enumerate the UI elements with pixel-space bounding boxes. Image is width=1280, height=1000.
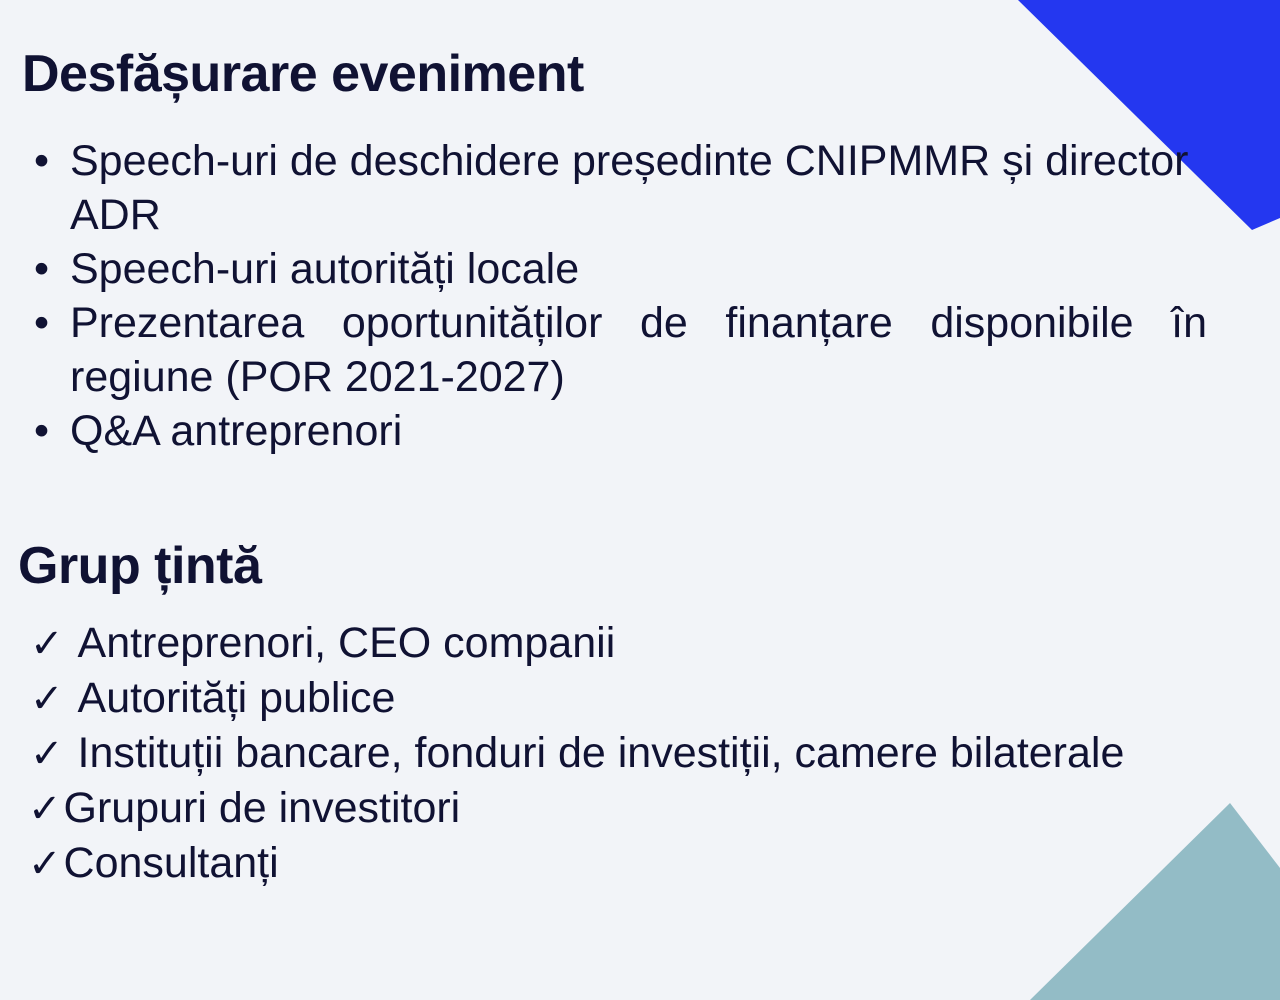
- check-icon: ✓: [30, 727, 64, 781]
- check-icon: ✓: [28, 782, 62, 836]
- event-bullet-list: Speech-uri de deschidere președinte CNIP…: [22, 134, 1207, 458]
- list-item: Q&A antreprenori: [22, 404, 1207, 458]
- list-item-label: Autorități publice: [78, 674, 396, 722]
- check-icon: ✓: [30, 617, 64, 671]
- page-title-event: Desfășurare eveniment: [22, 48, 584, 100]
- list-item: ✓Antreprenori, CEO companii: [0, 616, 1154, 671]
- list-item-label: Prezentarea oportunităților de finanțare…: [70, 296, 1207, 404]
- bullet-dot-icon: [34, 404, 48, 458]
- slide-body: Desfășurare eveniment Speech-uri de desc…: [0, 0, 1280, 1000]
- list-item: ✓Autorități publice: [0, 671, 1154, 726]
- list-item: Speech-uri de deschidere președinte CNIP…: [22, 134, 1207, 242]
- list-item: Speech-uri autorități locale: [22, 242, 1207, 296]
- list-item-label: Speech-uri autorități locale: [70, 242, 1207, 296]
- list-item-label: Consultanți: [64, 839, 279, 887]
- list-item: ✓Instituții bancare, fonduri de investiț…: [0, 726, 1154, 781]
- page-title-audience: Grup țintă: [18, 540, 261, 592]
- list-item-label: Grupuri de investitori: [64, 784, 461, 832]
- list-item: ✓Consultanți: [0, 836, 1154, 891]
- audience-check-list: ✓Antreprenori, CEO companii ✓Autorități …: [0, 616, 1154, 891]
- list-item-label: Q&A antreprenori: [70, 404, 1207, 458]
- list-item-label: Instituții bancare, fonduri de investiți…: [78, 729, 1125, 777]
- list-item-label: Speech-uri de deschidere președinte CNIP…: [70, 134, 1207, 242]
- check-icon: ✓: [30, 672, 64, 726]
- bullet-dot-icon: [34, 242, 48, 296]
- check-icon: ✓: [28, 837, 62, 891]
- bullet-dot-icon: [34, 296, 48, 350]
- list-item: ✓Grupuri de investitori: [0, 781, 1154, 836]
- bullet-dot-icon: [34, 134, 48, 188]
- list-item: Prezentarea oportunităților de finanțare…: [22, 296, 1207, 404]
- list-item-label: Antreprenori, CEO companii: [78, 619, 616, 667]
